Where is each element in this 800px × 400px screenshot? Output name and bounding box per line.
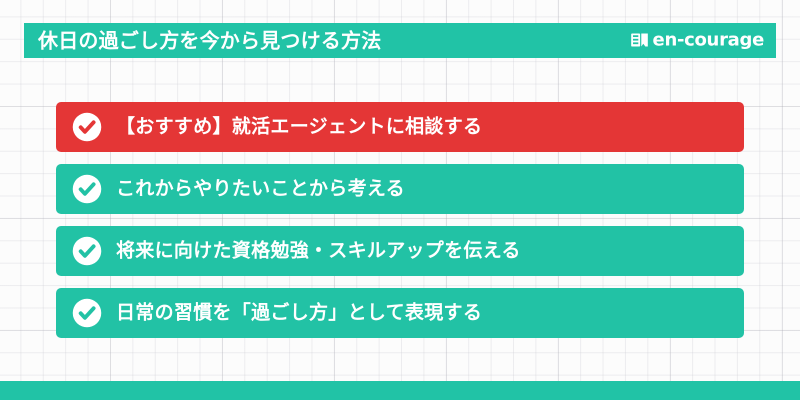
list-item[interactable]: 日常の習慣を「過ごし方」として表現する xyxy=(56,288,744,338)
checklist: 【おすすめ】就活エージェントに相談する これからやりたいことから考える 将来に向… xyxy=(56,102,744,338)
book-logo-icon xyxy=(630,31,649,50)
check-circle-icon xyxy=(72,174,102,204)
list-item-label: これからやりたいことから考える xyxy=(116,179,405,198)
list-item[interactable]: 【おすすめ】就活エージェントに相談する xyxy=(56,102,744,152)
check-circle-icon xyxy=(72,112,102,142)
list-item-label: 【おすすめ】就活エージェントに相談する xyxy=(116,117,482,136)
header-band: 休日の過ごし方を今から見つける方法 en-courage xyxy=(24,23,776,58)
list-item[interactable]: これからやりたいことから考える xyxy=(56,164,744,214)
page-title: 休日の過ごし方を今から見つける方法 xyxy=(38,30,381,50)
list-item-label: 日常の習慣を「過ごし方」として表現する xyxy=(116,303,482,322)
check-circle-icon xyxy=(72,236,102,266)
brand-name: en-courage xyxy=(653,31,764,49)
list-item-label: 将来に向けた資格勉強・スキルアップを伝える xyxy=(116,241,521,260)
brand-logo: en-courage xyxy=(630,31,764,50)
footer-accent-bar xyxy=(0,381,800,400)
slide-canvas: 休日の過ごし方を今から見つける方法 en-courage 【おすすめ】就活エージ… xyxy=(0,0,800,400)
check-circle-icon xyxy=(72,298,102,328)
list-item[interactable]: 将来に向けた資格勉強・スキルアップを伝える xyxy=(56,226,744,276)
